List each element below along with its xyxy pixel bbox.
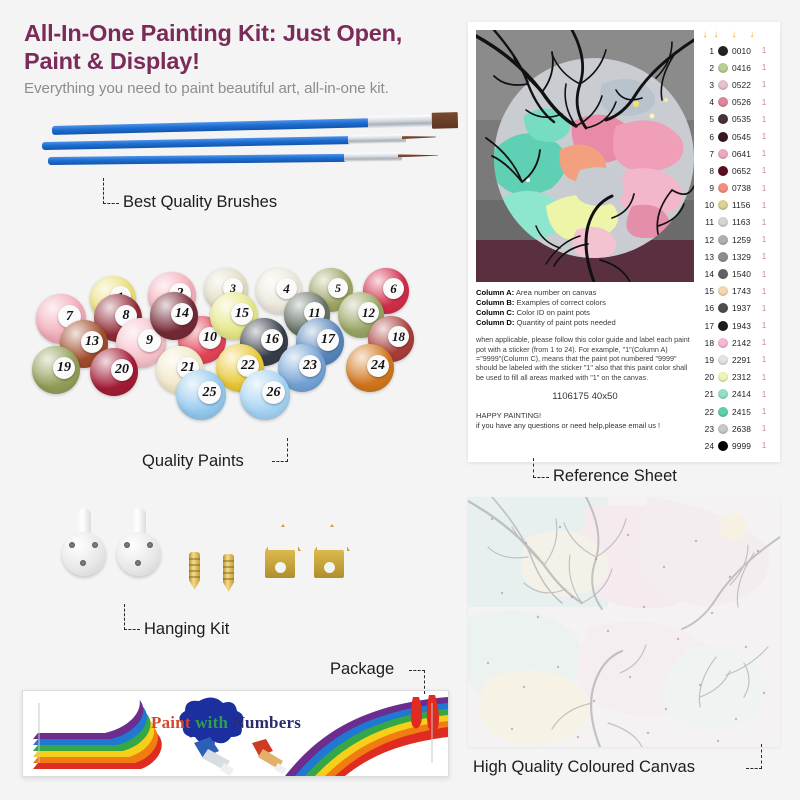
color-swatch — [718, 217, 728, 227]
brushes-image — [18, 112, 448, 174]
color-quantity: 1 — [759, 63, 769, 72]
color-swatch — [718, 183, 728, 193]
color-row-index: 24 — [700, 441, 717, 451]
column-desc: Area number on canvas — [516, 288, 597, 297]
color-swatch — [718, 303, 728, 313]
column-legend-row: Column B: Examples of correct colors — [476, 298, 694, 308]
color-row-index: 12 — [700, 235, 717, 245]
wall-hook-pin-hole — [69, 542, 75, 548]
color-table-row: 1619371 — [700, 300, 774, 317]
leader-line-brushes-horizontal — [103, 203, 119, 204]
color-swatch — [718, 441, 728, 451]
leader-line-brushes-vertical — [103, 178, 104, 204]
color-id: 1540 — [732, 269, 759, 279]
brush-handle — [48, 154, 348, 165]
color-id: 2142 — [732, 338, 759, 348]
color-swatch — [718, 355, 728, 365]
wall-hook-disc — [62, 532, 106, 576]
color-swatch — [718, 80, 728, 90]
package-logo-part-paint: Paint — [151, 713, 191, 732]
color-table-row: 1212591 — [700, 231, 774, 248]
leader-line-reference-vertical — [533, 458, 534, 478]
color-id: 0641 — [732, 149, 759, 159]
color-swatch — [718, 114, 728, 124]
paint-pot: 19 — [32, 346, 80, 394]
paint-pot-number: 17 — [317, 329, 339, 351]
color-id: 2414 — [732, 389, 759, 399]
color-table-row: 2023121 — [700, 369, 774, 386]
arrow-down-icon-column-b: ↓ — [709, 30, 723, 40]
color-table-row: 1517431 — [700, 283, 774, 300]
color-quantity: 1 — [759, 287, 769, 296]
color-quantity: 1 — [759, 149, 769, 158]
sku-size-label: 1106175 40x50 — [476, 391, 694, 402]
color-quantity: 1 — [759, 201, 769, 210]
color-reference-table: ↓ ↓ ↓ ↓ 10010120416130522140526150535160… — [700, 28, 774, 455]
color-row-index: 11 — [700, 217, 717, 227]
package-box-image: Paint with Numbers — [22, 690, 449, 777]
color-quantity: 1 — [759, 407, 769, 416]
color-row-index: 22 — [700, 407, 717, 417]
column-arrow-row: ↓ ↓ ↓ ↓ — [700, 28, 774, 42]
color-row-index: 2 — [700, 63, 717, 73]
callout-paints: Quality Paints — [142, 452, 244, 471]
leader-line-reference-horizontal — [533, 477, 549, 478]
column-key: Column C: — [476, 308, 514, 317]
color-row-index: 16 — [700, 303, 717, 313]
color-id: 0416 — [732, 63, 759, 73]
color-row-index: 18 — [700, 338, 717, 348]
color-quantity: 1 — [759, 115, 769, 124]
paint-pot-number: 16 — [261, 329, 283, 351]
callout-brushes: Best Quality Brushes — [123, 193, 277, 212]
color-table-row: 907381 — [700, 180, 774, 197]
color-row-index: 5 — [700, 114, 717, 124]
color-table-row: 1922911 — [700, 351, 774, 368]
color-id: 1937 — [732, 303, 759, 313]
color-id: 0526 — [732, 97, 759, 107]
color-table-row: 1313291 — [700, 248, 774, 265]
package-artwork — [23, 691, 448, 776]
color-row-index: 17 — [700, 321, 717, 331]
leader-line-paints-vertical — [287, 438, 288, 462]
color-row-index: 7 — [700, 149, 717, 159]
color-table-row: 706411 — [700, 145, 774, 162]
color-id: 1163 — [732, 217, 759, 227]
color-id: 0545 — [732, 132, 759, 142]
color-quantity: 1 — [759, 321, 769, 330]
reference-sheet-text: Column A: Area number on canvas Column B… — [476, 288, 694, 430]
paint-pot-number: 23 — [299, 355, 321, 377]
wall-hook — [116, 508, 162, 580]
paint-pot-number: 19 — [53, 357, 75, 379]
color-row-index: 1 — [700, 46, 717, 56]
printed-canvas-image — [468, 497, 780, 747]
screw — [223, 554, 234, 592]
color-row-index: 6 — [700, 132, 717, 142]
paint-pot: 14 — [150, 292, 198, 340]
paint-pot-number: 14 — [171, 303, 193, 325]
column-desc: Color ID on paint pots — [517, 308, 590, 317]
color-swatch — [718, 286, 728, 296]
paint-pot-number: 24 — [367, 355, 389, 377]
color-swatch — [718, 372, 728, 382]
paint-pot-number: 26 — [262, 381, 285, 404]
screw — [189, 552, 200, 590]
color-row-index: 10 — [700, 200, 717, 210]
color-id: 2291 — [732, 355, 759, 365]
color-id: 0010 — [732, 46, 759, 56]
color-table-row: 405261 — [700, 94, 774, 111]
column-desc: Quantity of paint pots needed — [517, 318, 616, 327]
leader-line-package-horizontal — [409, 670, 425, 671]
happy-painting-label: HAPPY PAINTING! — [476, 411, 694, 420]
hanging-kit-image — [55, 500, 365, 600]
canvas-preview-svg — [476, 30, 694, 282]
d-ring-screw-hole — [275, 562, 286, 573]
paint-pot-number: 18 — [388, 326, 409, 347]
color-swatch — [718, 97, 728, 107]
column-legend-row: Column C: Color ID on paint pots — [476, 308, 694, 318]
paint-pot-number: 20 — [111, 359, 133, 381]
color-id: 1943 — [732, 321, 759, 331]
color-swatch — [718, 389, 728, 399]
color-id: 0738 — [732, 183, 759, 193]
column-key: Column D: — [476, 318, 514, 327]
leader-line-hanging-vertical — [124, 604, 125, 630]
color-table-row: 806521 — [700, 162, 774, 179]
column-legend-row: Column A: Area number on canvas — [476, 288, 694, 298]
color-table-row: 2224151 — [700, 403, 774, 420]
d-ring-hanger — [312, 524, 346, 584]
color-row-index: 4 — [700, 97, 717, 107]
color-id: 2312 — [732, 372, 759, 382]
color-row-index: 9 — [700, 183, 717, 193]
color-quantity: 1 — [759, 80, 769, 89]
color-swatch — [718, 252, 728, 262]
color-row-index: 20 — [700, 372, 717, 382]
color-id: 9999 — [732, 441, 759, 451]
color-row-index: 13 — [700, 252, 717, 262]
color-table-row: 2326381 — [700, 420, 774, 437]
brush-ferrule — [344, 152, 402, 162]
d-ring-triangle — [314, 524, 350, 551]
color-quantity: 1 — [759, 235, 769, 244]
color-row-index: 14 — [700, 269, 717, 279]
paint-pot-number: 5 — [328, 278, 348, 298]
package-logo-part-with: with — [195, 713, 228, 732]
color-swatch — [718, 407, 728, 417]
color-quantity: 1 — [759, 355, 769, 364]
package-logo: Paint with Numbers — [151, 713, 301, 733]
color-quantity: 1 — [759, 424, 769, 433]
color-table-row: 1111631 — [700, 214, 774, 231]
callout-hanging-kit: Hanging Kit — [144, 620, 229, 639]
wall-hook-disc — [117, 532, 161, 576]
arrow-down-icon-column-c: ↓ — [723, 30, 745, 40]
callout-package: Package — [330, 660, 394, 679]
color-table-row: 1821421 — [700, 334, 774, 351]
color-quantity: 1 — [759, 98, 769, 107]
color-swatch — [718, 46, 728, 56]
instructions-paragraph: when applicable, please follow this colo… — [476, 335, 694, 382]
color-row-index: 19 — [700, 355, 717, 365]
color-quantity: 1 — [759, 270, 769, 279]
color-quantity: 1 — [759, 184, 769, 193]
column-key: Column A: — [476, 288, 514, 297]
color-row-index: 23 — [700, 424, 717, 434]
page-title-line1: All-In-One Painting Kit: Just Open, — [24, 20, 402, 46]
color-swatch — [718, 424, 728, 434]
page-title: All-In-One Painting Kit: Just Open, Pain… — [24, 20, 474, 75]
paint-pot: 24 — [346, 344, 394, 392]
arrow-down-icon-column-a: ↓ — [701, 30, 709, 40]
color-swatch — [718, 149, 728, 159]
arrow-down-icon-column-d: ↓ — [745, 30, 759, 40]
color-table-row: 1415401 — [700, 265, 774, 282]
d-ring-screw-hole — [324, 562, 335, 573]
product-infographic: All-In-One Painting Kit: Just Open, Pain… — [0, 0, 800, 800]
brush-ferrule — [348, 134, 406, 144]
paint-pot: 25 — [176, 370, 226, 420]
color-quantity: 1 — [759, 373, 769, 382]
printed-canvas-svg — [468, 497, 780, 747]
color-swatch — [718, 338, 728, 348]
column-desc: Examples of correct colors — [517, 298, 606, 307]
paint-pot-number: 6 — [383, 278, 404, 299]
paint-pot: 26 — [240, 370, 290, 420]
color-swatch — [718, 200, 728, 210]
wall-hook-pin-hole — [80, 560, 86, 566]
color-table-row: 505351 — [700, 111, 774, 128]
color-table-row: 1011561 — [700, 197, 774, 214]
brush-bristles — [398, 154, 438, 157]
color-swatch — [718, 235, 728, 245]
color-table-row: 2499991 — [700, 437, 774, 454]
package-logo-part-numbers: Numbers — [233, 713, 301, 732]
color-row-index: 3 — [700, 80, 717, 90]
brush-handle — [42, 136, 352, 150]
color-quantity: 1 — [759, 304, 769, 313]
color-quantity: 1 — [759, 390, 769, 399]
color-quantity: 1 — [759, 252, 769, 261]
color-table-row: 1719431 — [700, 317, 774, 334]
paint-pot-number: 25 — [198, 381, 221, 404]
color-row-index: 8 — [700, 166, 717, 176]
paint-pot-number: 13 — [81, 331, 103, 353]
paint-pot: 20 — [90, 348, 138, 396]
paint-pots-image: 1234567891011121314151617181920212223242… — [28, 258, 448, 443]
leader-line-paints-horizontal — [272, 461, 288, 462]
color-swatch — [718, 132, 728, 142]
brush-handle — [52, 118, 372, 135]
color-id: 1156 — [732, 200, 759, 210]
brush-bristles — [402, 135, 436, 139]
paint-pot-number: 12 — [358, 302, 379, 323]
callout-canvas: High Quality Coloured Canvas — [473, 758, 695, 777]
color-quantity: 1 — [759, 218, 769, 227]
color-quantity: 1 — [759, 46, 769, 55]
d-ring-triangle — [265, 524, 301, 551]
paintbrush-round-fine — [48, 150, 438, 166]
color-table-row: 204161 — [700, 59, 774, 76]
color-quantity: 1 — [759, 338, 769, 347]
wall-hook-pin-hole — [124, 542, 130, 548]
wall-hook — [61, 508, 107, 580]
color-quantity: 1 — [759, 441, 769, 450]
heading-block: All-In-One Painting Kit: Just Open, Pain… — [24, 20, 474, 97]
leader-line-canvas-vertical — [761, 744, 762, 769]
color-swatch — [718, 63, 728, 73]
color-row-index: 21 — [700, 389, 717, 399]
wall-hook-pin-hole — [92, 542, 98, 548]
color-table-row: 305221 — [700, 76, 774, 93]
wall-hook-pin-hole — [135, 560, 141, 566]
column-key: Column B: — [476, 298, 514, 307]
color-id: 1743 — [732, 286, 759, 296]
color-id: 0535 — [732, 114, 759, 124]
color-id: 0652 — [732, 166, 759, 176]
callout-reference-sheet: Reference Sheet — [553, 467, 677, 486]
color-swatch — [718, 166, 728, 176]
leader-line-canvas-horizontal — [746, 768, 762, 769]
color-id: 2638 — [732, 424, 759, 434]
brush-bristles — [432, 112, 458, 129]
color-id: 2415 — [732, 407, 759, 417]
d-ring-hanger — [263, 524, 297, 584]
brush-ferrule — [368, 115, 436, 129]
color-quantity: 1 — [759, 166, 769, 175]
page-title-line2: Paint & Display! — [24, 48, 200, 74]
color-id: 0522 — [732, 80, 759, 90]
color-swatch — [718, 321, 728, 331]
contact-line: if you have any questions or need help,p… — [476, 421, 694, 430]
color-id: 1259 — [732, 235, 759, 245]
leader-line-hanging-horizontal — [124, 629, 140, 630]
color-table-row: 100101 — [700, 42, 774, 59]
color-swatch — [718, 269, 728, 279]
reference-sheet: Column A: Area number on canvas Column B… — [468, 22, 780, 462]
column-legend-row: Column D: Quantity of paint pots needed — [476, 318, 694, 328]
wall-hook-pin-hole — [147, 542, 153, 548]
page-subtitle: Everything you need to paint beautiful a… — [24, 80, 474, 97]
color-quantity: 1 — [759, 132, 769, 141]
canvas-preview-artwork — [476, 30, 694, 282]
color-table-row: 2124141 — [700, 386, 774, 403]
color-table-row: 605451 — [700, 128, 774, 145]
leader-line-package-vertical — [424, 670, 425, 694]
color-id: 1329 — [732, 252, 759, 262]
color-row-index: 15 — [700, 286, 717, 296]
